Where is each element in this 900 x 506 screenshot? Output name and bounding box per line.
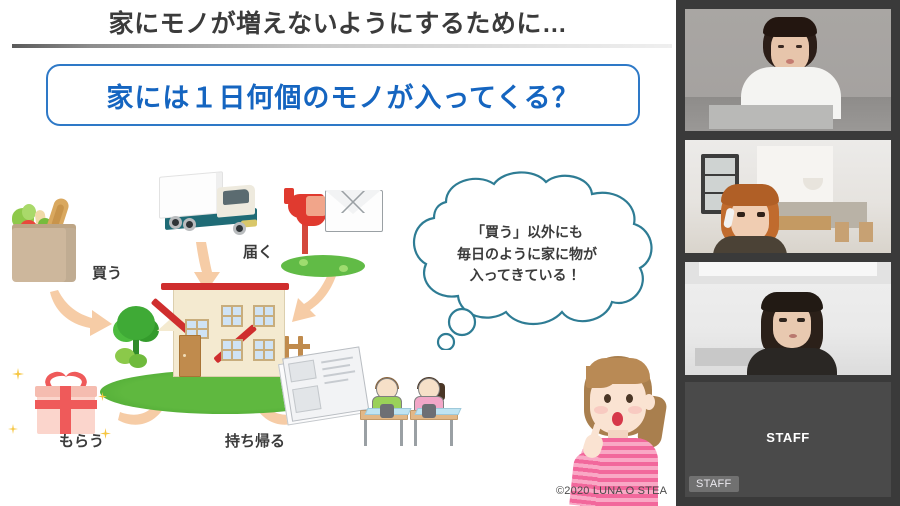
gift-box-illustration — [35, 372, 99, 434]
envelope-illustration — [325, 190, 383, 232]
video-tile-participant-4[interactable]: STAFF STAFF — [685, 382, 891, 497]
thought-bubble-text: 「買う」以外にも 毎日のように家に物が 入ってきている ！ — [420, 222, 634, 287]
house-illustration — [145, 283, 295, 383]
participant-name-center: STAFF — [685, 430, 891, 445]
participant-name-badge: STAFF — [689, 476, 739, 492]
sparkle-icon — [12, 368, 24, 380]
bubble-line: 「買う」以外にも — [420, 222, 634, 244]
sparkle-icon — [8, 424, 18, 434]
bubble-line: 毎日のように家に物が — [420, 244, 634, 266]
grocery-bag-illustration — [6, 196, 84, 282]
newspaper-illustration — [282, 346, 370, 425]
students-illustration — [360, 378, 464, 452]
label-buy: 買う — [92, 262, 122, 283]
video-tile-participant-1[interactable] — [685, 9, 891, 131]
video-tile-participant-3[interactable] — [685, 262, 891, 375]
slide-title: 家にモノが増えないようにするために… — [0, 4, 676, 40]
copyright-notice: ©2020 LUNA O STEA — [556, 485, 667, 497]
presentation-slide: 家にモノが増えないようにするために… 家には１日何個のモノが入ってくる？ — [0, 0, 676, 506]
label-receive: もらう — [59, 430, 104, 451]
video-participant-sidebar: STAFF STAFF — [676, 0, 900, 506]
label-deliver: 届く — [243, 241, 273, 262]
bubble-line: 入ってきている ！ — [420, 265, 634, 287]
title-divider — [12, 44, 672, 48]
delivery-truck-illustration — [159, 168, 263, 240]
label-bring-home: 持ち帰る — [225, 430, 285, 451]
question-callout-box: 家には１日何個のモノが入ってくる？ — [46, 64, 640, 126]
screen: 家にモノが増えないようにするために… 家には１日何個のモノが入ってくる？ — [0, 0, 900, 506]
question-text: 家には１日何個のモノが入ってくる？ — [106, 76, 579, 115]
girl-character-illustration — [566, 352, 674, 506]
thought-bubble: 「買う」以外にも 毎日のように家に物が 入ってきている ！ — [384, 170, 666, 350]
video-tile-participant-2[interactable] — [685, 140, 891, 253]
